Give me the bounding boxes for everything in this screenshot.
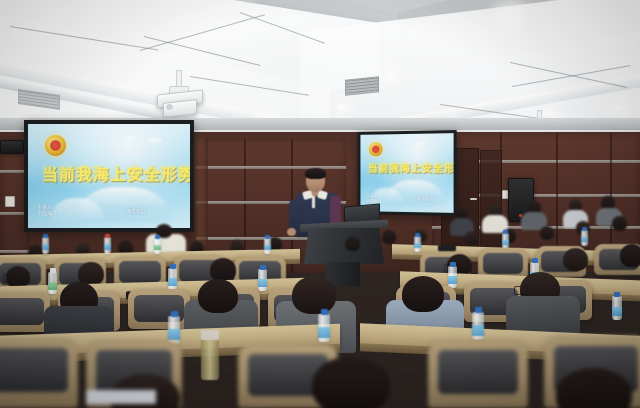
audience-head bbox=[563, 248, 588, 271]
audience-head bbox=[382, 230, 396, 244]
slide-decoration bbox=[148, 138, 162, 142]
organization-emblem-icon bbox=[45, 135, 66, 156]
projection-screen-right: 当前我海上安全形势 海洋权益 主讲人 中国海洋 bbox=[360, 133, 453, 213]
water-bottle bbox=[414, 236, 421, 252]
mobile-phone[interactable] bbox=[438, 245, 456, 251]
water-bottle bbox=[168, 268, 177, 290]
tea-thermos bbox=[201, 338, 219, 380]
water-bottle bbox=[612, 296, 622, 320]
water-bottle bbox=[48, 272, 57, 294]
water-bottle bbox=[264, 238, 271, 254]
wall-mounted-speaker-left bbox=[0, 140, 24, 154]
recessed-light-square bbox=[500, 8, 520, 22]
projection-screen-left-frame: 当前我海上安全形势 海洋权益 主讲人 中国海洋 bbox=[24, 120, 194, 232]
door-handle[interactable] bbox=[470, 198, 477, 200]
audience-head bbox=[345, 236, 360, 251]
water-bottle bbox=[448, 266, 457, 288]
audience-head bbox=[198, 279, 238, 313]
slide-decoration bbox=[124, 136, 134, 141]
organization-emblem-icon bbox=[369, 142, 382, 156]
chair[interactable] bbox=[0, 338, 78, 408]
slide-title-left: 当前我海上安全形势 bbox=[42, 161, 190, 185]
wall-switch[interactable] bbox=[5, 196, 15, 207]
wall-seam bbox=[610, 133, 612, 245]
water-bottle bbox=[154, 238, 161, 254]
water-bottle bbox=[502, 233, 509, 249]
recessed-light bbox=[385, 72, 395, 79]
water-bottle bbox=[472, 312, 484, 340]
water-bottle bbox=[42, 237, 49, 254]
audience-head bbox=[292, 276, 336, 314]
wall-trim bbox=[196, 166, 346, 169]
recessed-light bbox=[545, 110, 554, 116]
chair[interactable] bbox=[428, 340, 528, 408]
slide-title-right: 当前我海上安全形势 bbox=[368, 160, 454, 175]
slide-caption-left: 海洋权益 bbox=[126, 208, 146, 215]
presenter-hair bbox=[305, 168, 326, 179]
podium-body bbox=[304, 228, 384, 264]
wall-seam bbox=[556, 133, 558, 251]
wall-trim bbox=[0, 250, 30, 253]
chair[interactable] bbox=[128, 289, 190, 329]
paper-handout bbox=[86, 390, 156, 404]
audience-head bbox=[612, 216, 627, 231]
chair[interactable] bbox=[0, 292, 50, 332]
slide-footnote-left: 主讲人 中国海洋 bbox=[37, 206, 57, 218]
door-right[interactable] bbox=[480, 150, 502, 248]
water-bottle bbox=[104, 237, 111, 254]
audience-head bbox=[540, 226, 554, 240]
audience-head-foreground bbox=[312, 356, 390, 408]
recessed-light bbox=[615, 104, 624, 110]
water-bottle bbox=[258, 269, 267, 291]
projection-screen-left: 当前我海上安全形势 海洋权益 主讲人 中国海洋 bbox=[28, 124, 190, 228]
eyeglasses bbox=[514, 286, 528, 295]
water-bottle bbox=[318, 314, 330, 342]
audience-head bbox=[465, 231, 478, 245]
recessed-light bbox=[337, 104, 347, 111]
audience-head bbox=[620, 244, 640, 267]
water-bottle bbox=[581, 230, 588, 246]
presenter-placket bbox=[312, 196, 315, 208]
slide-caption-right: 海洋权益 bbox=[417, 196, 433, 202]
eyeglasses bbox=[3, 274, 14, 282]
presenter-hand bbox=[287, 228, 296, 236]
lecture-hall-photo: 当前我海上安全形势 海洋权益 主讲人 中国海洋 当前我海上安全形势 海洋权益 主… bbox=[0, 0, 640, 408]
audience-head bbox=[402, 276, 444, 312]
